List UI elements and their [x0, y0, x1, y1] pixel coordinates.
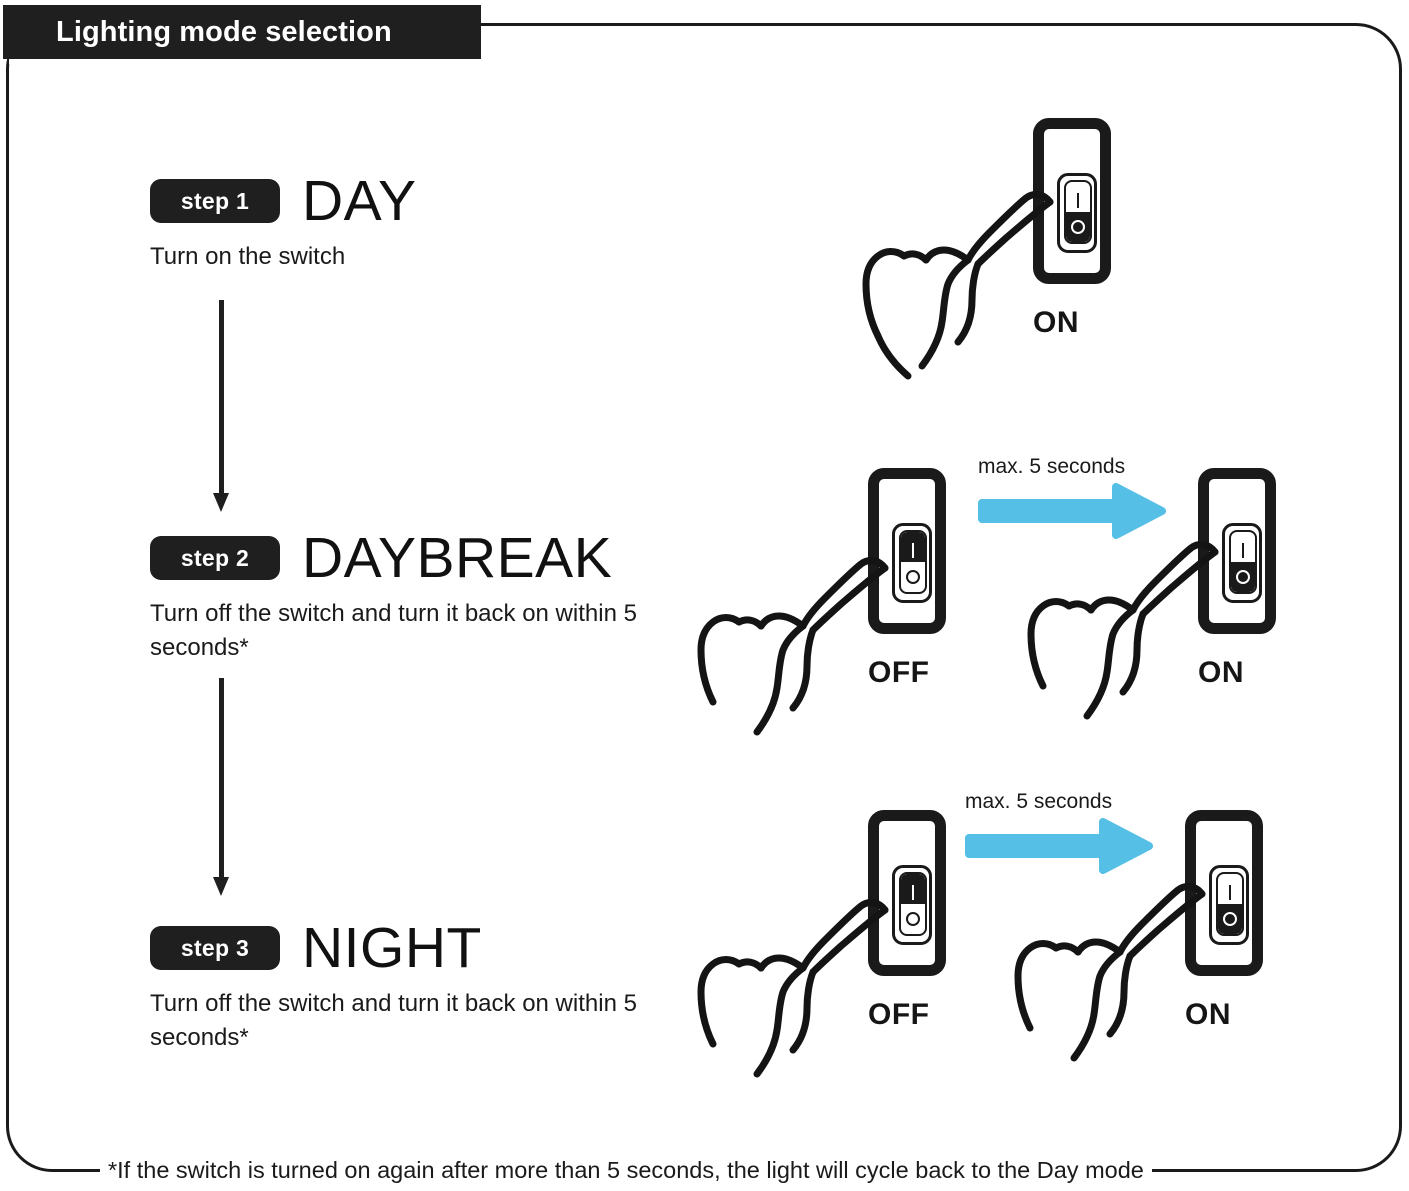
power-on-symbol-icon	[912, 543, 914, 558]
page-title-badge: Lighting mode selection	[3, 5, 481, 59]
power-on-symbol-icon	[1077, 193, 1079, 208]
step-3-mode-name: NIGHT	[302, 920, 482, 977]
power-off-symbol-icon	[1223, 912, 1237, 926]
switch-state-label: OFF	[868, 656, 988, 690]
step-1-description: Turn on the switch	[150, 240, 416, 274]
switch-state-label: ON	[1185, 998, 1305, 1032]
power-on-symbol-icon	[1242, 543, 1244, 558]
step-1-heading: step 1 DAY	[150, 178, 416, 224]
switch-state-label: ON	[1198, 656, 1318, 690]
step-block-3: step 3 NIGHT Turn off the switch and tur…	[150, 925, 670, 1055]
step-1-mode-name: DAY	[302, 173, 416, 230]
power-on-symbol-icon	[1229, 885, 1231, 900]
step-2-heading: step 2 DAYBREAK	[150, 535, 670, 581]
step-3-heading: step 3 NIGHT	[150, 925, 670, 971]
step-block-2: step 2 DAYBREAK Turn off the switch and …	[150, 535, 670, 665]
flow-arrow-1-icon	[213, 300, 229, 512]
step-1-badge: step 1	[150, 179, 280, 223]
power-on-symbol-icon	[912, 885, 914, 900]
pointing-hand-icon	[1075, 520, 1235, 748]
lighting-mode-selection-diagram: Lighting mode selection step 1 DAY Turn …	[0, 0, 1409, 1191]
power-off-symbol-icon	[906, 570, 920, 584]
power-off-symbol-icon	[1236, 570, 1250, 584]
switch-unit-on: ON	[1062, 810, 1292, 1090]
switch-state-label: ON	[1033, 306, 1153, 340]
pointing-hand-icon	[745, 520, 905, 748]
step-2-badge: step 2	[150, 536, 280, 580]
step-2-mode-name: DAYBREAK	[302, 530, 612, 587]
step-3-description: Turn off the switch and turn it back on …	[150, 987, 670, 1055]
step-block-1: step 1 DAY Turn on the switch	[150, 178, 416, 274]
pointing-hand-icon	[910, 170, 1070, 398]
step-3-badge: step 3	[150, 926, 280, 970]
power-off-symbol-icon	[1071, 220, 1085, 234]
switch-unit-off: OFF	[745, 468, 975, 748]
power-off-symbol-icon	[906, 912, 920, 926]
switch-state-label: OFF	[868, 998, 988, 1032]
switch-unit-off: OFF	[745, 810, 975, 1090]
pointing-hand-icon	[1062, 862, 1222, 1090]
footnote-text: *If the switch is turned on again after …	[100, 1155, 1152, 1186]
step-2-description: Turn off the switch and turn it back on …	[150, 597, 670, 665]
switch-unit-on: ON	[1075, 468, 1305, 748]
flow-arrow-2-icon	[213, 678, 229, 896]
switch-unit-on: ON	[910, 118, 1140, 398]
pointing-hand-icon	[745, 862, 905, 1090]
page-title: Lighting mode selection	[56, 16, 392, 49]
